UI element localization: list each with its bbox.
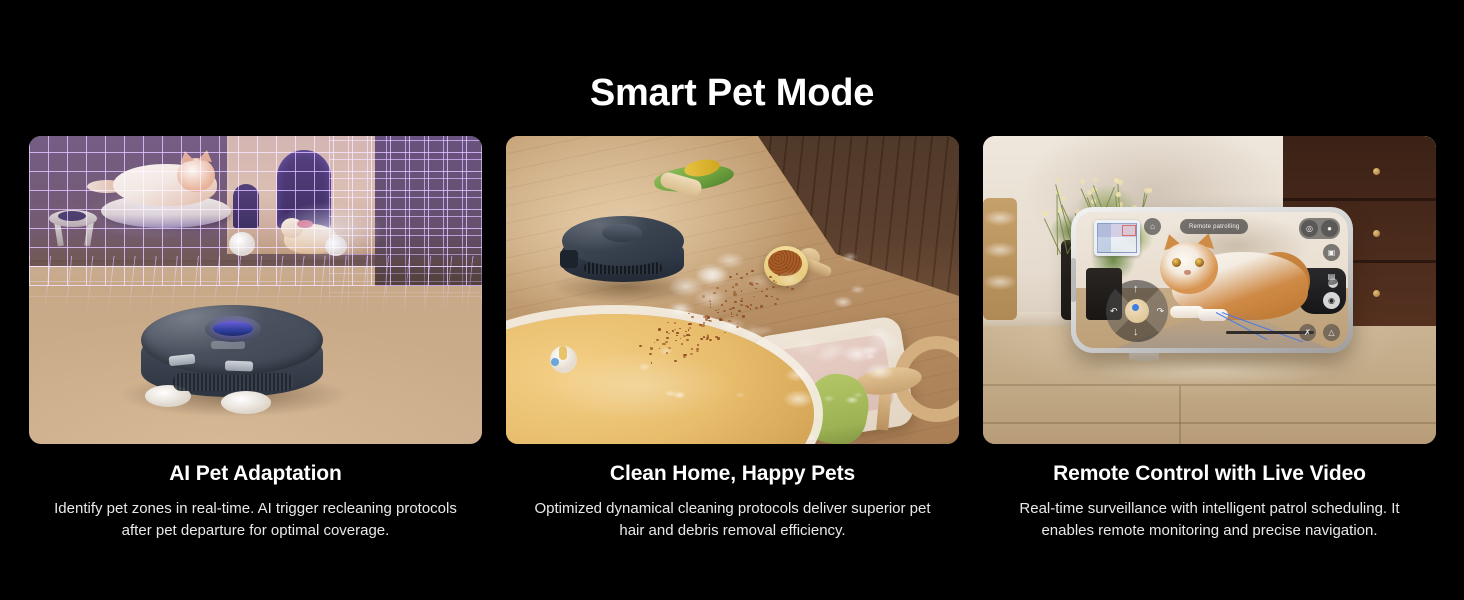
- mop-pad-right: [221, 391, 271, 414]
- record-button[interactable]: ◉: [1323, 292, 1340, 309]
- kibble-crumb: [766, 288, 768, 290]
- camera-button[interactable]: ▤: [1323, 268, 1340, 285]
- pet-hair-tuft: [842, 252, 859, 262]
- pet-hair-tuft: [746, 274, 771, 289]
- pet-hair-tuft: [735, 392, 745, 398]
- kibble-crumb: [741, 290, 743, 291]
- kibble-crumb: [685, 331, 687, 332]
- gallery-button[interactable]: ▣: [1323, 244, 1340, 261]
- dresser-knob-1: [1373, 168, 1380, 175]
- pet-hair-tuft: [865, 363, 895, 381]
- home-icon: ⌂: [1150, 223, 1155, 231]
- scene-living-floor: [506, 136, 959, 444]
- feature-image-remote-control-live-video: ⌂ Remote patrolling ◎ ●: [983, 136, 1436, 444]
- pet-hair-tuft: [740, 324, 767, 340]
- microphone-icon: △: [1328, 329, 1334, 337]
- kibble-crumb: [738, 310, 741, 312]
- pet-hair-tuft: [868, 332, 903, 353]
- video-cat-eye-left: [1172, 258, 1181, 267]
- joystick-down-icon[interactable]: ↓: [1133, 327, 1139, 338]
- pet-hair-tuft: [783, 390, 814, 409]
- map-thumbnail[interactable]: [1094, 220, 1140, 256]
- kibble-crumb: [750, 304, 752, 306]
- settings-button[interactable]: ●: [1321, 220, 1338, 237]
- kibble-crumb: [676, 332, 679, 334]
- joystick-center[interactable]: [1125, 299, 1149, 323]
- kibble-crumb: [709, 339, 712, 341]
- kibble-crumb: [733, 293, 737, 296]
- home-button[interactable]: ⌂: [1144, 218, 1161, 235]
- feature-image-clean-home-happy-pets: [506, 136, 959, 444]
- kibble-crumb: [686, 339, 689, 341]
- card-description: Optimized dynamical cleaning protocols d…: [523, 498, 943, 542]
- feature-card-ai-pet-adaptation: AI Pet Adaptation Identify pet zones in …: [29, 136, 482, 542]
- smartphone[interactable]: ⌂ Remote patrolling ◎ ●: [1071, 207, 1353, 353]
- kibble-crumb: [746, 273, 748, 275]
- plant-flower: [1116, 192, 1121, 197]
- joystick-thumb[interactable]: [1132, 304, 1139, 311]
- video-cat-nose: [1184, 270, 1191, 275]
- toy-ball-dot: [551, 358, 559, 366]
- feature-card-clean-home-happy-pets: Clean Home, Happy Pets Optimized dynamic…: [506, 136, 959, 542]
- card-heading: Clean Home, Happy Pets: [610, 460, 855, 488]
- kibble-crumb: [696, 350, 699, 352]
- joystick-rotate-right-icon[interactable]: ↷: [1156, 306, 1164, 317]
- tile-seam-3: [1179, 386, 1181, 444]
- phone-screen[interactable]: ⌂ Remote patrolling ◎ ●: [1076, 212, 1348, 348]
- snapshot-button[interactable]: ◎: [1301, 220, 1318, 237]
- kibble-crumb: [740, 277, 743, 280]
- robot-vacuum: [137, 299, 327, 419]
- plant-flower: [1043, 211, 1048, 216]
- dresser-knob-2: [1373, 230, 1380, 237]
- robot-button-right: [225, 361, 253, 372]
- kibble-crumb: [703, 336, 705, 338]
- pet-hair-tuft: [774, 271, 804, 289]
- record-icon: ◉: [1328, 297, 1335, 305]
- video-cat-head: [1160, 242, 1218, 294]
- kibble-crumb: [740, 304, 743, 306]
- pet-hair-tuft: [668, 276, 704, 297]
- kibble-crumb: [699, 324, 701, 325]
- tile-seam-1: [983, 384, 1436, 386]
- map-selected-room: [1122, 225, 1136, 236]
- video-cat-eye-right: [1195, 258, 1204, 267]
- feature-card-remote-control-live-video: ⌂ Remote patrolling ◎ ●: [983, 136, 1436, 542]
- kibble-crumb: [688, 323, 691, 326]
- pet-hair-tuft: [823, 395, 834, 402]
- scene-room: [29, 136, 482, 444]
- kibble-crumb: [697, 344, 699, 346]
- side-control-rail[interactable]: ▣ ▤ ◉: [1323, 244, 1340, 309]
- kibble-crumb: [707, 316, 710, 319]
- page-title: Smart Pet Mode: [0, 68, 1464, 118]
- pet-hair-tuft: [814, 349, 838, 363]
- plant-flower: [1055, 178, 1060, 183]
- camera-icon: ▤: [1328, 273, 1336, 281]
- snapshot-icon: ◎: [1306, 225, 1313, 233]
- kibble-crumb: [681, 343, 684, 345]
- phone-side-button: [1071, 258, 1076, 302]
- dresser-drawer-line-1: [1283, 198, 1436, 201]
- phone-reflection: [1083, 358, 1341, 384]
- kibble-crumb: [650, 347, 653, 349]
- kibble-crumb: [742, 315, 745, 318]
- plant-flower: [1118, 180, 1123, 185]
- direction-joystick[interactable]: ↑ ↓ ↶ ↷: [1106, 280, 1168, 342]
- pet-hair-tuft: [785, 368, 808, 382]
- smart-pet-mode-section: Smart Pet Mode: [0, 0, 1464, 600]
- kibble-crumb: [765, 295, 767, 297]
- mute-button[interactable]: ✗: [1299, 324, 1316, 341]
- wood-sculpture-highlight-1: [983, 210, 1017, 226]
- plant-flower: [1061, 196, 1066, 201]
- kibble-crumb: [760, 305, 763, 308]
- card-description: Identify pet zones in real-time. AI trig…: [46, 498, 466, 542]
- kibble-crumb: [665, 341, 668, 343]
- scene-hallway: ⌂ Remote patrolling ◎ ●: [983, 136, 1436, 444]
- lidar-turret: [602, 224, 642, 242]
- voice-button[interactable]: △: [1323, 324, 1340, 341]
- kibble-crumb: [691, 348, 693, 350]
- robot-sensor-strip: [211, 341, 245, 349]
- feature-image-ai-pet-adaptation: [29, 136, 482, 444]
- wood-sculpture-highlight-2: [983, 242, 1017, 258]
- card-heading: Remote Control with Live Video: [1053, 460, 1366, 488]
- gear-icon: ●: [1327, 225, 1332, 233]
- gallery-icon: ▣: [1328, 249, 1336, 257]
- kibble-crumb: [706, 337, 709, 339]
- toy-ball-stripe: [559, 346, 567, 360]
- kibble-crumb: [745, 305, 748, 307]
- card-description: Real-time surveillance with intelligent …: [1010, 498, 1410, 542]
- mute-icon: ✗: [1304, 329, 1311, 337]
- plant-stem: [1043, 219, 1060, 255]
- dresser-knob-3: [1373, 290, 1380, 297]
- joystick-up-icon[interactable]: ↑: [1133, 284, 1139, 295]
- robot-vent: [173, 373, 293, 391]
- status-badge: Remote patrolling: [1180, 219, 1248, 234]
- bottom-button-group[interactable]: ✗ △: [1299, 324, 1340, 341]
- kibble-crumb: [683, 356, 686, 359]
- kibble-crumb: [639, 345, 642, 347]
- lidar-glow: [213, 321, 253, 336]
- kibble-crumb: [675, 340, 677, 342]
- kibble-crumb: [683, 335, 686, 338]
- tile-seam-2: [983, 422, 1436, 424]
- feature-card-grid: AI Pet Adaptation Identify pet zones in …: [29, 136, 1435, 542]
- joystick-rotate-left-icon[interactable]: ↶: [1110, 306, 1118, 317]
- plant-flower: [1093, 177, 1098, 182]
- kibble-crumb: [686, 334, 690, 337]
- plant-stem: [1058, 213, 1068, 254]
- phone-stand: [1129, 352, 1159, 361]
- kibble-crumb: [729, 276, 732, 278]
- plant-flower: [1080, 179, 1085, 184]
- robot-bumper: [560, 250, 578, 268]
- card-heading: AI Pet Adaptation: [169, 460, 342, 488]
- wood-sculpture-highlight-3: [983, 274, 1017, 290]
- top-button-group[interactable]: ◎ ●: [1299, 218, 1340, 239]
